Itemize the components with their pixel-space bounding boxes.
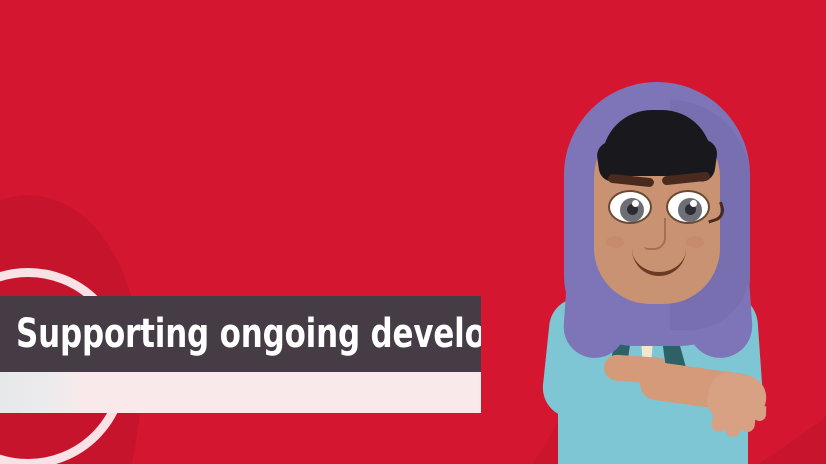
character-cheek-right — [686, 236, 704, 248]
character-eye-glint-right — [690, 200, 697, 207]
character-eye-glint-left — [632, 200, 639, 207]
video-slide: Supporting ongoing development — [0, 0, 826, 464]
caption-title-bar: Supporting ongoing development — [0, 296, 481, 372]
page-title: Supporting ongoing development — [16, 314, 481, 354]
caption-subtitle-bar — [0, 372, 481, 413]
caption-block: Supporting ongoing development — [0, 296, 481, 413]
illustrated-woman-character — [520, 60, 826, 464]
character-cheek-left — [606, 236, 624, 248]
character-finger — [753, 406, 767, 421]
